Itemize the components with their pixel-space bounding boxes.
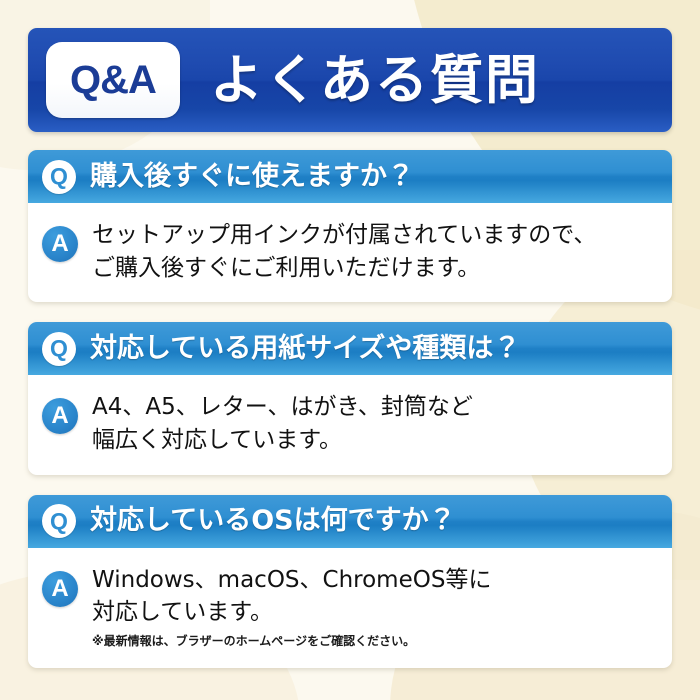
answer-lines: A4、A5、レター、はがき、封筒など 幅広く対応しています。 (92, 391, 656, 456)
answer-lines: セットアップ用インクが付属されていますので、 ご購入後すぐにご利用いただけます。 (92, 219, 656, 284)
answer-line: Windows、macOS、ChromeOS等に (92, 564, 656, 597)
qa-chip: Q&A (46, 42, 180, 118)
answer-badge-letter: A (51, 404, 68, 428)
question-text: 購入後すぐに使えますか？ (90, 162, 414, 192)
answer-lines: Windows、macOS、ChromeOS等に 対応しています。 ※最新情報は… (92, 564, 656, 650)
answer-line: セットアップ用インクが付属されていますので、 (92, 219, 656, 252)
answer-badge-letter: A (51, 232, 68, 256)
answer-badge-icon: A (42, 571, 78, 607)
question-badge-letter: Q (50, 337, 68, 360)
question-text: 対応している用紙サイズや種類は？ (90, 334, 520, 364)
question-band: Q 対応している用紙サイズや種類は？ (28, 322, 672, 375)
answer-body: A Windows、macOS、ChromeOS等に 対応しています。 ※最新情… (28, 548, 672, 668)
header-banner: Q&A よくある質問 (28, 28, 672, 132)
qa-chip-label: Q&A (70, 60, 156, 100)
answer-footnote: ※最新情報は、ブラザーのホームページをご確認ください。 (92, 634, 656, 650)
answer-badge-icon: A (42, 226, 78, 262)
page-title: よくある質問 (210, 54, 540, 107)
question-text: 対応しているOSは何ですか？ (90, 506, 456, 536)
question-badge-icon: Q (42, 160, 76, 194)
question-badge-icon: Q (42, 332, 76, 366)
answer-line: 幅広く対応しています。 (92, 424, 656, 457)
question-badge-letter: Q (50, 510, 68, 533)
answer-badge-icon: A (42, 398, 78, 434)
answer-badge-letter: A (51, 577, 68, 601)
answer-line: A4、A5、レター、はがき、封筒など (92, 391, 656, 424)
answer-body: A セットアップ用インクが付属されていますので、 ご購入後すぐにご利用いただけま… (28, 203, 672, 302)
faq-card: Q 対応している用紙サイズや種類は？ A A4、A5、レター、はがき、封筒など … (28, 322, 672, 474)
faq-card: Q 対応しているOSは何ですか？ A Windows、macOS、ChromeO… (28, 495, 672, 668)
faq-infographic: Q&A よくある質問 Q 購入後すぐに使えますか？ A セットアップ用インクが付… (0, 0, 700, 700)
question-band: Q 対応しているOSは何ですか？ (28, 495, 672, 548)
question-badge-letter: Q (50, 165, 68, 188)
question-band: Q 購入後すぐに使えますか？ (28, 150, 672, 203)
faq-list: Q 購入後すぐに使えますか？ A セットアップ用インクが付属されていますので、 … (28, 150, 672, 688)
question-badge-icon: Q (42, 504, 76, 538)
answer-line: ご購入後すぐにご利用いただけます。 (92, 252, 656, 285)
answer-body: A A4、A5、レター、はがき、封筒など 幅広く対応しています。 (28, 375, 672, 474)
answer-line: 対応しています。 (92, 596, 656, 629)
faq-card: Q 購入後すぐに使えますか？ A セットアップ用インクが付属されていますので、 … (28, 150, 672, 302)
